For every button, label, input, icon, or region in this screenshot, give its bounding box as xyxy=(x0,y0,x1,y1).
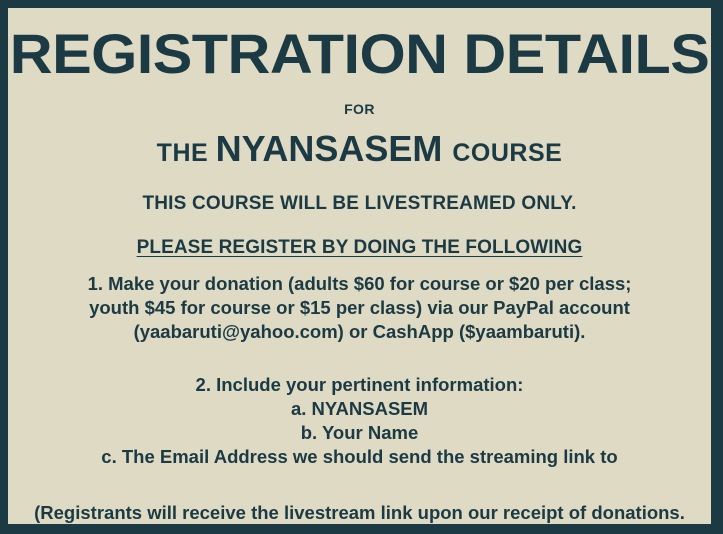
course-heading-suffix: COURSE xyxy=(452,139,562,167)
course-heading: THE NYANSASEM COURSE xyxy=(8,117,711,167)
step-one-line: (yaabaruti@yahoo.com) or CashApp ($yaamb… xyxy=(8,320,711,344)
livestream-notice: THIS COURSE WILL BE LIVESTREAMED ONLY. xyxy=(8,167,711,215)
footer-note: (Registrants will receive the livestream… xyxy=(8,469,711,524)
step-two-line: a. NYANSASEM xyxy=(8,397,711,421)
step-two-line: c. The Email Address we should send the … xyxy=(8,445,711,469)
step-two-line: 2. Include your pertinent information: xyxy=(8,373,711,397)
register-heading: PLEASE REGISTER BY DOING THE FOLLOWING xyxy=(8,215,711,259)
step-two-paragraph: 2. Include your pertinent information: a… xyxy=(8,344,711,469)
step-one-paragraph: 1. Make your donation (adults $60 for co… xyxy=(8,259,711,344)
course-heading-name: NYANSASEM xyxy=(216,128,453,169)
flyer-body: REGISTRATION DETAILS FOR THE NYANSASEM C… xyxy=(8,8,711,524)
step-two-line: b. Your Name xyxy=(8,421,711,445)
footer-line: (Registrants will receive the livestream… xyxy=(8,501,711,524)
page-title: REGISTRATION DETAILS xyxy=(8,8,711,82)
step-one-line: 1. Make your donation (adults $60 for co… xyxy=(8,272,711,296)
course-heading-prefix: THE xyxy=(157,139,216,167)
flyer-border: REGISTRATION DETAILS FOR THE NYANSASEM C… xyxy=(0,0,723,534)
step-one-line: youth $45 for course or $15 per class) v… xyxy=(8,296,711,320)
for-label: FOR xyxy=(8,82,711,117)
